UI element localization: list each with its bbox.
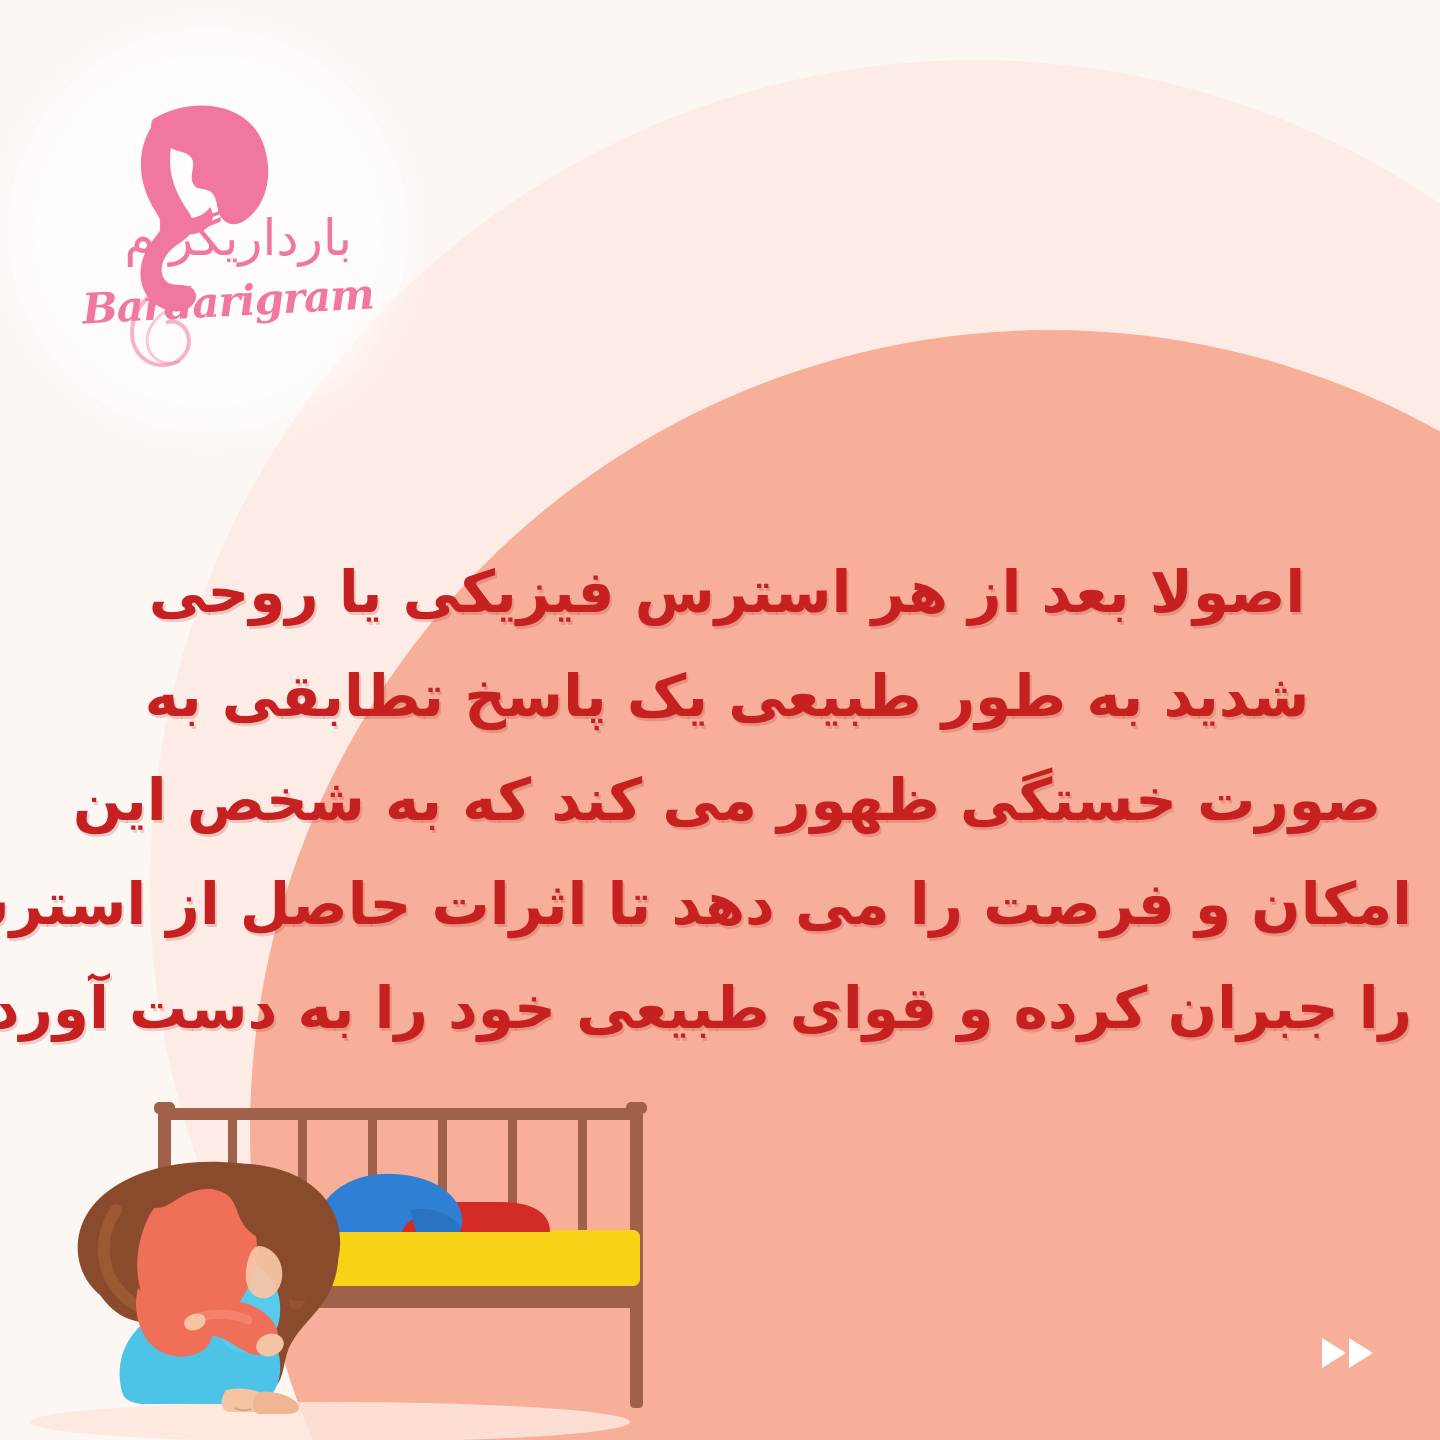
brand-logo-badge[interactable]: بارداریگرام Bardarigram bbox=[38, 58, 378, 404]
post-body-text: اصولا بعد از هر استرس فیزیکی یا روحی شدی… bbox=[42, 540, 1412, 1060]
body-line-2: شدید به طور طبیعی یک پاسخ تطابقی به bbox=[42, 644, 1412, 748]
body-line-3: صورت خستگی ظهور می کند که به شخص این bbox=[42, 748, 1412, 852]
floor-shadow bbox=[30, 1402, 630, 1440]
logo-name-fa: بارداریگرام bbox=[124, 213, 352, 263]
fast-forward-icon[interactable] bbox=[1320, 1336, 1382, 1370]
illustration-mother-and-crib bbox=[30, 1090, 700, 1440]
body-line-4: امکان و فرصت را می دهد تا اثرات حاصل از … bbox=[42, 852, 1412, 956]
body-line-5: را جبران کرده و قوای طبیعی خود را به دست… bbox=[42, 956, 1412, 1060]
sad-woman bbox=[78, 1162, 340, 1414]
body-line-1: اصولا بعد از هر استرس فیزیکی یا روحی bbox=[42, 540, 1412, 644]
woman-feet bbox=[222, 1388, 300, 1414]
post-canvas: بارداریگرام Bardarigram اصولا بعد از هر … bbox=[0, 0, 1440, 1440]
